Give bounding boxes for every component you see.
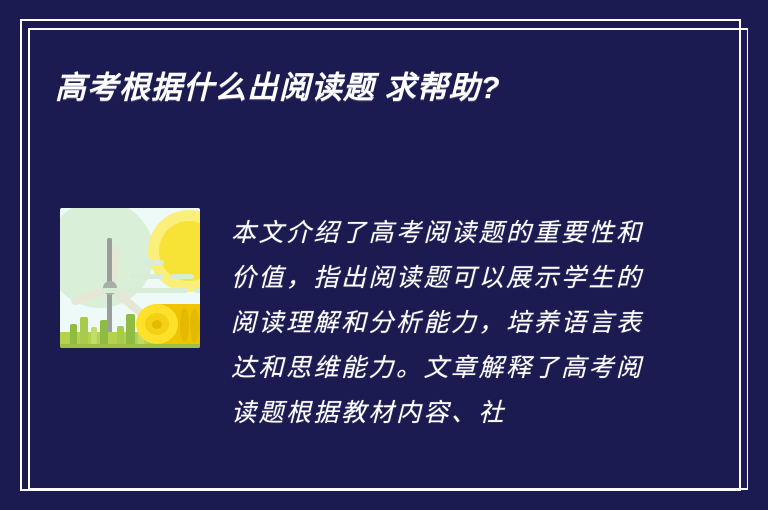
grass-blade (70, 324, 77, 344)
hay-bale-icon (136, 304, 200, 346)
grass-blade (100, 320, 108, 344)
grass-blade (80, 317, 88, 344)
article-summary-text: 本文介绍了高考阅读题的重要性和价值，指出阅读题可以展示学生的阅读理解和分析能力，… (231, 211, 651, 436)
hay-bale-swirl (190, 309, 199, 343)
illustration-sky (60, 208, 200, 348)
grass-blade (117, 326, 124, 344)
wind-turbine-farm-illustration (60, 208, 210, 356)
hay-bale-face (136, 304, 178, 344)
grass-blade (91, 327, 97, 344)
hay-bale-core (152, 320, 162, 329)
page-title: 高考根据什么出阅读题 求帮助? (55, 68, 501, 108)
grass-blade (126, 314, 135, 344)
poster-canvas: 高考根据什么出阅读题 求帮助? (0, 0, 768, 510)
hay-bale-swirl (180, 308, 189, 342)
frame-mask-bottom (0, 491, 768, 510)
frame-mask-right (748, 0, 768, 510)
